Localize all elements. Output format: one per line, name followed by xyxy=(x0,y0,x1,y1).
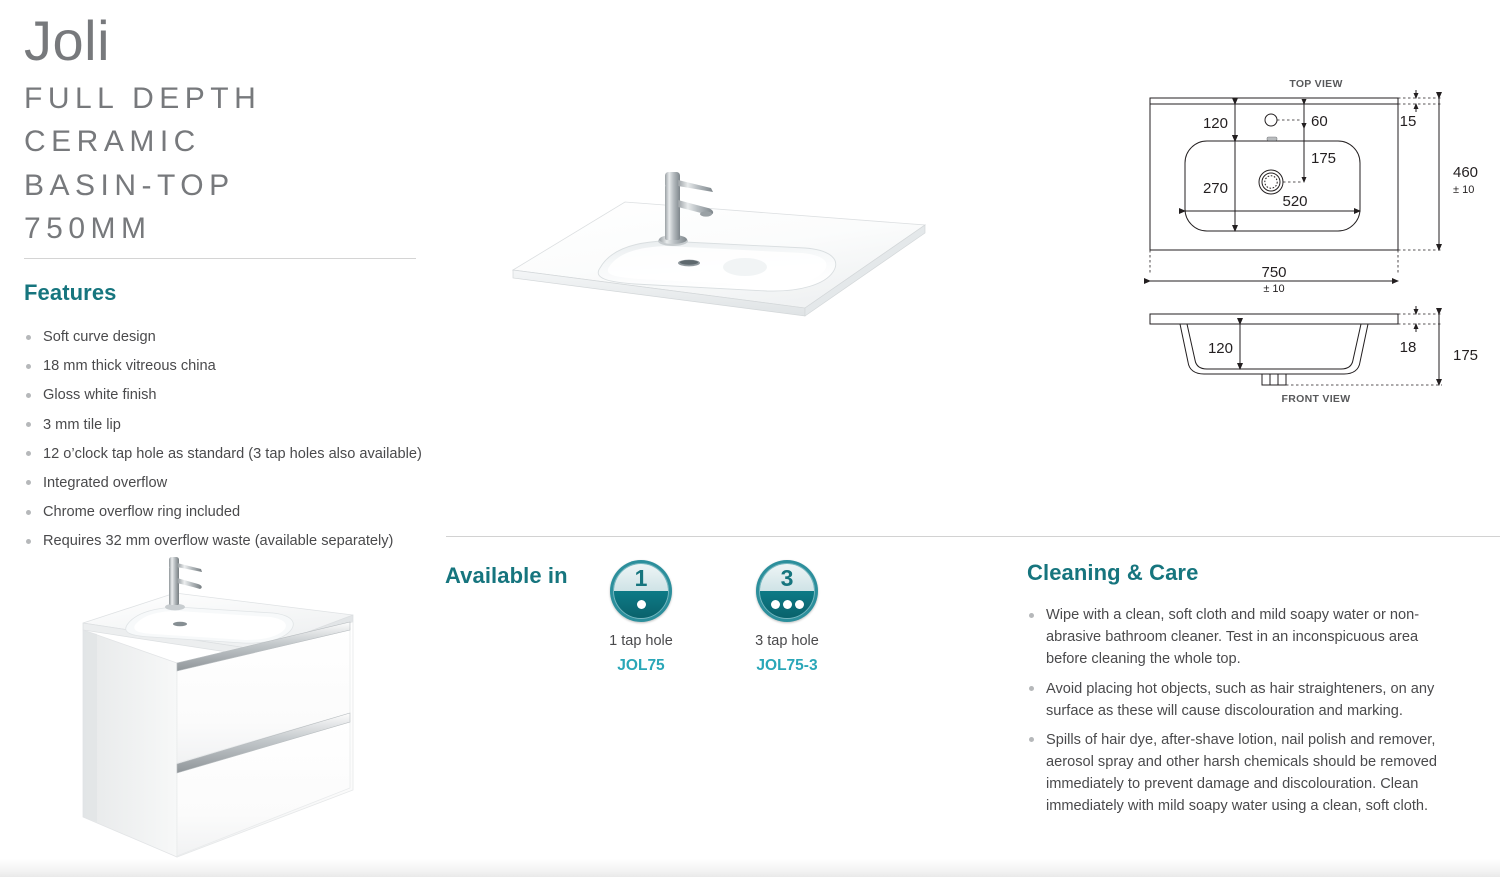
features-list: Soft curve design 18 mm thick vitreous c… xyxy=(24,326,428,552)
dim-18: 18 xyxy=(1400,339,1417,356)
dim-270: 270 xyxy=(1203,180,1228,197)
list-item: Wipe with a clean, soft cloth and mild s… xyxy=(1027,604,1452,671)
cleaning-care-heading: Cleaning & Care xyxy=(1027,560,1452,586)
product-subtitle: FULL DEPTH CERAMIC BASIN-TOP 750MM xyxy=(24,77,424,251)
dim-520: 520 xyxy=(1282,193,1307,210)
product-code[interactable]: JOL75 xyxy=(603,657,679,675)
list-item: Gloss white finish xyxy=(24,384,428,406)
features-section: Features Soft curve design 18 mm thick v… xyxy=(24,280,428,559)
dim-750-tol: ± 10 xyxy=(1263,283,1284,295)
tap-hole-dot-icon xyxy=(771,600,780,609)
vanity-illustration xyxy=(55,545,385,870)
title-divider xyxy=(24,258,416,259)
tap-hole-options: 1 1 tap hole JOL75 3 xyxy=(603,560,825,675)
technical-drawings: TOP VIEW FRONT VIEW xyxy=(1140,78,1492,408)
dim-15: 15 xyxy=(1400,113,1417,130)
features-heading: Features xyxy=(24,280,428,306)
badge-number: 3 xyxy=(781,567,794,590)
tap-hole-dot-icon xyxy=(795,600,804,609)
list-item: Soft curve design xyxy=(24,326,428,348)
product-code[interactable]: JOL75-3 xyxy=(749,657,825,675)
dim-460: 460 xyxy=(1453,164,1478,181)
basin-illustration xyxy=(505,150,935,330)
dim-120-top: 120 xyxy=(1203,115,1228,132)
tap-hole-option-3[interactable]: 3 3 tap hole JOL75-3 xyxy=(749,560,825,675)
tap-hole-badge-3[interactable]: 3 xyxy=(756,560,818,622)
tap-hole-dot-icon xyxy=(637,600,646,609)
dim-60: 60 xyxy=(1311,113,1328,130)
list-item: 12 o’clock tap hole as standard (3 tap h… xyxy=(24,443,428,465)
list-item: Avoid placing hot objects, such as hair … xyxy=(1027,678,1452,722)
dim-175: 175 xyxy=(1311,150,1336,167)
basin-product-photo xyxy=(505,150,935,330)
cleaning-care-list: Wipe with a clean, soft cloth and mild s… xyxy=(1027,604,1452,818)
tap-hole-dots-1 xyxy=(614,591,668,618)
tap-hole-dots-3 xyxy=(760,591,814,618)
vanity-unit-photo xyxy=(55,545,385,870)
dimension-drawing: 120 270 60 175 520 15 460 ± 10 750 ± 10 … xyxy=(1140,78,1492,408)
product-spec-sheet: Joli FULL DEPTH CERAMIC BASIN-TOP 750MM … xyxy=(0,0,1500,877)
badge-number: 1 xyxy=(635,567,648,590)
dim-175-height: 175 xyxy=(1453,347,1478,364)
list-item: Integrated overflow xyxy=(24,472,428,494)
dim-750: 750 xyxy=(1261,264,1286,281)
page-bottom-edge xyxy=(0,859,1500,877)
page-title: Joli xyxy=(24,12,424,71)
list-item: 18 mm thick vitreous china xyxy=(24,355,428,377)
tap-hole-option-1[interactable]: 1 1 tap hole JOL75 xyxy=(603,560,679,675)
dim-120-front: 120 xyxy=(1208,340,1233,357)
badge-caption: 1 tap hole xyxy=(603,633,679,649)
top-view-label: TOP VIEW xyxy=(1140,78,1492,90)
front-view-label: FRONT VIEW xyxy=(1140,393,1492,405)
list-item: Spills of hair dye, after-shave lotion, … xyxy=(1027,729,1452,818)
list-item: Chrome overflow ring included xyxy=(24,501,428,523)
dim-460-tol: ± 10 xyxy=(1453,184,1474,196)
available-in-heading: Available in xyxy=(445,563,603,589)
tap-hole-dot-icon xyxy=(783,600,792,609)
tap-hole-badge-1[interactable]: 1 xyxy=(610,560,672,622)
cleaning-care-section: Cleaning & Care Wipe with a clean, soft … xyxy=(1027,560,1452,825)
badge-caption: 3 tap hole xyxy=(749,633,825,649)
title-block: Joli FULL DEPTH CERAMIC BASIN-TOP 750MM xyxy=(24,12,424,251)
available-in-section: Available in 1 1 tap hole xyxy=(445,560,865,675)
list-item: 3 mm tile lip xyxy=(24,414,428,436)
section-divider xyxy=(446,536,1500,537)
